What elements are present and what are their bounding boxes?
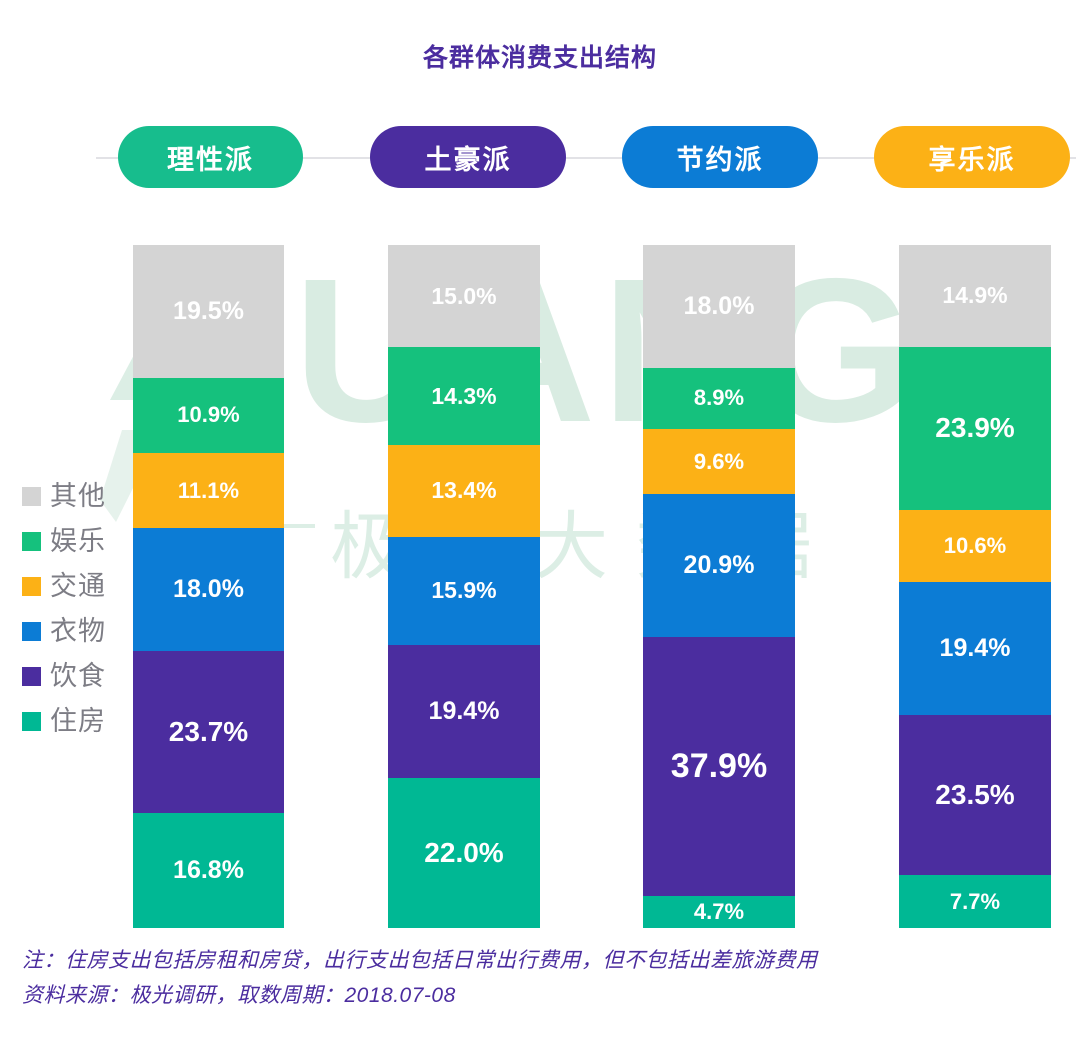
legend-item-住房: 住房 (22, 699, 106, 744)
stacked-bar-节约派: 18.0%8.9%9.6%20.9%37.9%4.7% (643, 245, 795, 928)
bar-segment-value: 20.9% (684, 553, 755, 578)
page-title: 各群体消费支出结构 (0, 38, 1080, 74)
bar-segment-value: 14.9% (942, 284, 1007, 307)
legend-swatch-icon (22, 667, 41, 686)
bar-segment-饮食: 23.5% (899, 715, 1051, 876)
bar-segment-交通: 13.4% (388, 445, 540, 537)
bar-segment-value: 4.7% (694, 901, 744, 923)
bar-segment-value: 23.9% (935, 414, 1014, 442)
stacked-bar-plot-area: 19.5%10.9%11.1%18.0%23.7%16.8%15.0%14.3%… (0, 245, 1080, 928)
legend-label: 饮食 (50, 663, 106, 690)
bar-segment-value: 7.7% (950, 891, 1000, 913)
footnote-2: 资料来源：极光调研，取数周期：2018.07-08 (22, 979, 818, 1014)
bar-segment-衣物: 15.9% (388, 537, 540, 646)
bar-segment-value: 13.4% (431, 479, 496, 502)
legend-label: 衣物 (50, 618, 106, 645)
bar-segment-value: 19.4% (940, 636, 1011, 661)
legend-swatch-icon (22, 712, 41, 731)
legend-swatch-icon (22, 622, 41, 641)
bar-segment-value: 8.9% (694, 387, 744, 409)
bar-segment-value: 23.5% (935, 781, 1014, 809)
bar-segment-娱乐: 23.9% (899, 347, 1051, 510)
legend-swatch-icon (22, 577, 41, 596)
bar-segment-娱乐: 10.9% (133, 378, 284, 452)
tab-label: 理性派 (167, 138, 254, 177)
stacked-bar-享乐派: 14.9%23.9%10.6%19.4%23.5%7.7% (899, 245, 1051, 928)
legend-label: 交通 (50, 573, 106, 600)
bar-segment-value: 37.9% (671, 749, 767, 783)
bar-segment-住房: 16.8% (133, 813, 284, 928)
bar-segment-value: 16.8% (173, 858, 244, 883)
bar-segment-其他: 14.9% (899, 245, 1051, 347)
bar-segment-衣物: 20.9% (643, 494, 795, 637)
bar-segment-交通: 11.1% (133, 453, 284, 529)
bar-segment-住房: 22.0% (388, 778, 540, 928)
bar-segment-住房: 7.7% (899, 875, 1051, 928)
group-tab-bar: 理性派土豪派节约派享乐派 (0, 118, 1080, 198)
bar-segment-衣物: 19.4% (899, 582, 1051, 715)
bar-segment-饮食: 37.9% (643, 637, 795, 896)
bar-segment-衣物: 18.0% (133, 528, 284, 651)
bar-segment-value: 23.7% (169, 718, 248, 746)
bar-segment-value: 11.1% (178, 480, 239, 502)
bar-segment-娱乐: 14.3% (388, 347, 540, 445)
bar-segment-value: 10.6% (944, 535, 1006, 557)
tab-group-2[interactable]: 土豪派 (370, 126, 566, 188)
bar-segment-交通: 10.6% (899, 510, 1051, 582)
bar-segment-其他: 18.0% (643, 245, 795, 368)
legend-item-饮食: 饮食 (22, 654, 106, 699)
bar-segment-value: 18.0% (173, 577, 244, 602)
bar-segment-住房: 4.7% (643, 896, 795, 928)
chart-legend: 其他娱乐交通衣物饮食住房 (22, 474, 106, 744)
footnote-1: 注：住房支出包括房租和房贷，出行支出包括日常出行费用，但不包括出差旅游费用 (22, 944, 818, 979)
bar-segment-value: 19.4% (429, 699, 500, 724)
legend-item-娱乐: 娱乐 (22, 519, 106, 564)
bar-segment-饮食: 23.7% (133, 651, 284, 813)
legend-item-交通: 交通 (22, 564, 106, 609)
legend-swatch-icon (22, 487, 41, 506)
bar-segment-value: 15.9% (431, 579, 496, 602)
stacked-bar-理性派: 19.5%10.9%11.1%18.0%23.7%16.8% (133, 245, 284, 928)
stacked-bar-土豪派: 15.0%14.3%13.4%15.9%19.4%22.0% (388, 245, 540, 928)
bar-segment-娱乐: 8.9% (643, 368, 795, 429)
tab-label: 节约派 (677, 138, 764, 177)
bar-segment-value: 9.6% (694, 451, 744, 473)
legend-label: 住房 (50, 708, 106, 735)
bar-segment-其他: 19.5% (133, 245, 284, 378)
legend-swatch-icon (22, 532, 41, 551)
bar-segment-value: 22.0% (424, 839, 503, 867)
bar-segment-value: 10.9% (177, 404, 239, 426)
bar-segment-value: 14.3% (431, 385, 496, 408)
tab-group-3[interactable]: 节约派 (622, 126, 818, 188)
footnotes: 注：住房支出包括房租和房贷，出行支出包括日常出行费用，但不包括出差旅游费用资料来… (22, 944, 818, 1013)
tab-group-4[interactable]: 享乐派 (874, 126, 1070, 188)
bar-segment-交通: 9.6% (643, 429, 795, 495)
tab-group-1[interactable]: 理性派 (118, 126, 303, 188)
tab-label: 享乐派 (929, 138, 1016, 177)
legend-label: 其他 (50, 483, 106, 510)
bar-segment-其他: 15.0% (388, 245, 540, 347)
legend-label: 娱乐 (50, 528, 106, 555)
bar-segment-value: 18.0% (684, 294, 755, 319)
bar-segment-value: 19.5% (173, 299, 244, 324)
bar-segment-饮食: 19.4% (388, 645, 540, 778)
legend-item-衣物: 衣物 (22, 609, 106, 654)
bar-segment-value: 15.0% (431, 285, 496, 308)
legend-item-其他: 其他 (22, 474, 106, 519)
tab-label: 土豪派 (425, 138, 512, 177)
